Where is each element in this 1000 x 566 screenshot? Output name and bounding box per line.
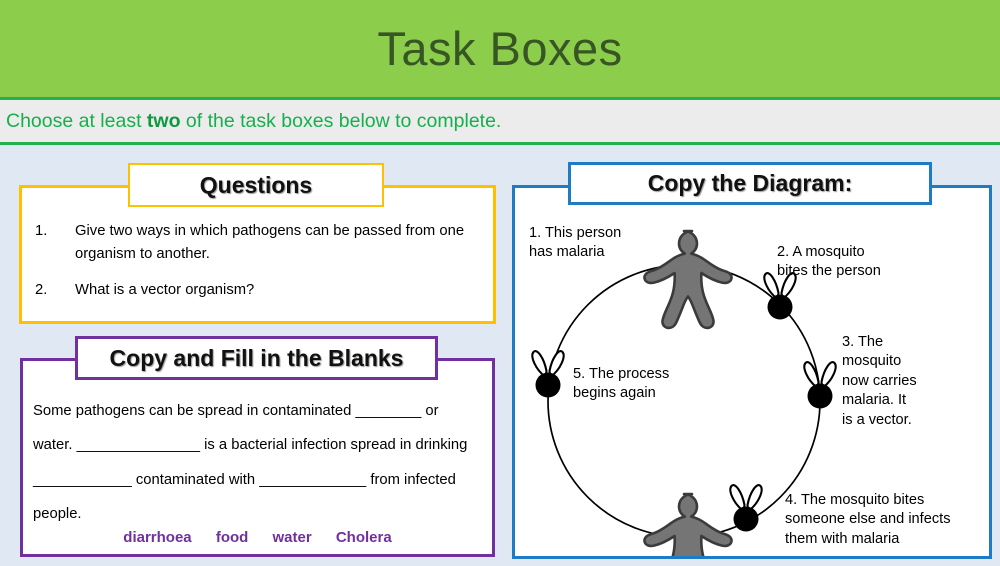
header-band: Task Boxes — [0, 0, 1000, 97]
word-bank: diarrhoea food water Cholera — [23, 529, 492, 546]
blanks-title-tab: Copy and Fill in the Blanks — [75, 336, 438, 380]
subtitle-text: Choose at least two of the task boxes be… — [0, 110, 501, 133]
cycle-step-label-1: 1. This person has malaria — [529, 224, 621, 263]
question-number: 2. — [35, 279, 75, 302]
subtitle-part-after: of the task boxes below to complete. — [181, 110, 502, 132]
blanks-task-box: Some pathogens can be spread in contamin… — [20, 358, 495, 557]
cycle-step-label-4: 4. The mosquito bites someone else and i… — [785, 491, 951, 549]
question-item: 2. What is a vector organism? — [35, 279, 483, 302]
question-item: 1. Give two ways in which pathogens can … — [35, 220, 483, 266]
questions-list: 1. Give two ways in which pathogens can … — [35, 220, 483, 315]
question-text: What is a vector organism? — [75, 279, 483, 302]
subtitle-emphasis: two — [147, 110, 181, 132]
cycle-step-label-2: 2. A mosquito bites the person — [777, 243, 881, 282]
cycle-marker-mosquito-4 — [730, 485, 761, 531]
word-bank-item: food — [216, 529, 248, 546]
subtitle-part-before: Choose at least — [6, 110, 147, 132]
cycle-marker-person-top — [644, 231, 731, 328]
word-bank-item: Cholera — [336, 529, 392, 546]
malaria-cycle-diagram: 1. This person has malaria 2. A mosquito… — [515, 188, 989, 556]
cycle-step-label-3: 3. The mosquito now carries malaria. It … — [842, 333, 917, 430]
blanks-paragraph: Some pathogens can be spread in contamin… — [33, 394, 482, 531]
subtitle-band: Choose at least two of the task boxes be… — [0, 100, 1000, 142]
question-number: 1. — [35, 220, 75, 266]
word-bank-item: water — [272, 529, 311, 546]
word-bank-item: diarrhoea — [123, 529, 191, 546]
diagram-title-tab: Copy the Diagram: — [568, 162, 932, 205]
cycle-step-label-5: 5. The process begins again — [573, 365, 669, 404]
header-rule-bottom — [0, 142, 1000, 145]
cycle-marker-mosquito-5 — [532, 351, 563, 397]
cycle-marker-mosquito-3 — [804, 362, 835, 408]
questions-title-tab: Questions — [128, 163, 384, 207]
question-text: Give two ways in which pathogens can be … — [75, 220, 483, 266]
page-title: Task Boxes — [377, 25, 622, 72]
diagram-task-box: 1. This person has malaria 2. A mosquito… — [512, 185, 992, 559]
slide-root: Task Boxes Choose at least two of the ta… — [0, 0, 1000, 566]
cycle-marker-person-bottom — [644, 494, 731, 556]
